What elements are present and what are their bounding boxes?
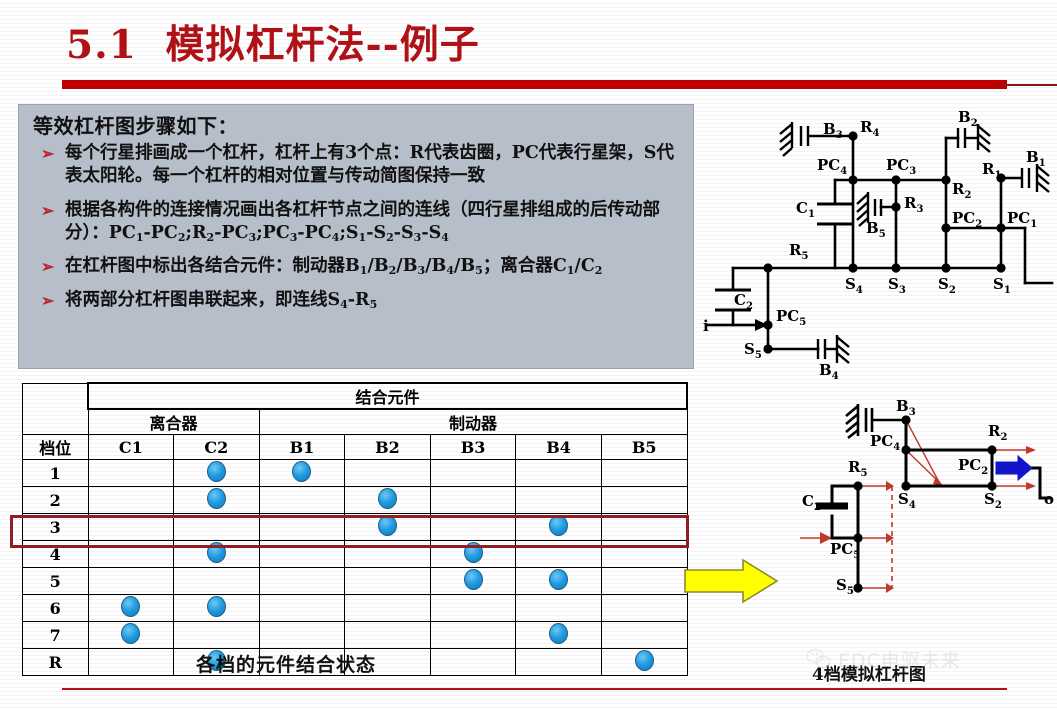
empty-cell (430, 514, 516, 541)
footer-rule (62, 688, 1007, 690)
engagement-dot-cell (259, 460, 345, 487)
empty-cell (259, 622, 345, 649)
list-item-label: 每个行星排画成一个杠杆，杠杆上有3个点：R代表齿圈，PC代表行星架，S代表太阳轮… (65, 142, 685, 189)
table-row: 7 (23, 622, 688, 649)
empty-cell (88, 649, 174, 676)
slide-title-bar: 5.1 模拟杠杆法--例子 (0, 8, 1057, 70)
engagement-dot-cell (88, 622, 174, 649)
label-s5: S5 (836, 576, 854, 597)
label-pc2: PC2 (958, 456, 988, 477)
fourth-gear-lever-diagram: B3 PC4 R2 PC2 R5 S4 S2 C2 PC5 S5 o (800, 398, 1057, 623)
table-row: 1 (23, 460, 688, 487)
table-subgroup-brake: 制动器 (259, 409, 687, 435)
gear-cell: 5 (23, 568, 89, 595)
empty-cell (174, 622, 260, 649)
label-pc5: PC5 (776, 307, 806, 328)
empty-cell (174, 568, 260, 595)
gear-engagement-table: 结合元件 离合器 制动器 档位 C1 C2 B1 B2 B3 B4 B5 123… (22, 382, 688, 634)
empty-cell (345, 595, 431, 622)
table-row: 6 (23, 595, 688, 622)
table-row: 4 (23, 541, 688, 568)
list-item-label: 在杠杆图中标出各结合元件：制动器B1/B2/B3/B4/B5；离合器C1/C2 (65, 255, 685, 279)
empty-cell (88, 460, 174, 487)
title-underline-tail (1003, 84, 1057, 86)
label-b1: B1 (1026, 148, 1046, 169)
engagement-dot-cell (601, 649, 687, 676)
watermark: EDC电驱未来 (806, 643, 1036, 675)
label-s5: S5 (744, 340, 762, 361)
label-b5: B5 (866, 219, 886, 240)
table-row: 3 (23, 514, 688, 541)
label-r4: R4 (860, 118, 879, 139)
label-b2: B2 (958, 108, 978, 129)
arrow-bullet-icon: ➢ (33, 142, 65, 165)
column-header-c2: C2 (174, 435, 260, 460)
engagement-dot-icon (121, 623, 140, 644)
table-group-header: 结合元件 (88, 383, 687, 409)
engagement-dot-cell (174, 595, 260, 622)
table-row: 2 (23, 487, 688, 514)
empty-cell (601, 460, 687, 487)
label-c1: C1 (796, 199, 815, 220)
list-item: ➢ 将两部分杠杆图串联起来，即连线S4-R5 (33, 289, 685, 313)
empty-cell (88, 541, 174, 568)
label-c2: C2 (734, 291, 753, 312)
empty-cell (345, 460, 431, 487)
gear-cell: R (23, 649, 89, 676)
label-input-i: i (703, 317, 709, 335)
empty-cell (345, 622, 431, 649)
empty-cell (259, 541, 345, 568)
yellow-arrow-icon (683, 558, 779, 604)
table-body: 1234567R (23, 460, 688, 676)
empty-cell (259, 514, 345, 541)
empty-cell (430, 595, 516, 622)
engagement-dot-icon (207, 488, 226, 509)
column-header-b4: B4 (516, 435, 602, 460)
list-item: ➢ 每个行星排画成一个杠杆，杠杆上有3个点：R代表齿圈，PC代表行星架，S代表太… (33, 142, 685, 189)
list-item: ➢ 在杠杆图中标出各结合元件：制动器B1/B2/B3/B4/B5；离合器C1/C… (33, 255, 685, 279)
label-pc3: PC3 (886, 156, 916, 177)
empty-cell (88, 568, 174, 595)
empty-cell (601, 568, 687, 595)
engagement-dot-cell (174, 487, 260, 514)
gear-cell: 4 (23, 541, 89, 568)
column-header-b3: B3 (430, 435, 516, 460)
empty-cell (430, 487, 516, 514)
empty-cell (516, 460, 602, 487)
engagement-dot-icon (207, 542, 226, 563)
empty-cell (430, 622, 516, 649)
arrow-bullet-icon: ➢ (33, 255, 65, 278)
title-label: 模拟杠杆法--例子 (165, 22, 479, 68)
steps-heading: 等效杠杆图步骤如下： (33, 115, 685, 138)
empty-cell (516, 487, 602, 514)
label-c2: C2 (802, 492, 821, 513)
label-pc5: PC5 (830, 540, 860, 561)
engagement-dot-cell (174, 541, 260, 568)
label-output-o: o (1044, 490, 1054, 508)
label-b3: B3 (823, 120, 843, 141)
list-item-label: 将两部分杠杆图串联起来，即连线S4-R5 (65, 289, 685, 313)
engagement-dot-cell (430, 568, 516, 595)
engagement-dot-icon (207, 461, 226, 482)
wechat-icon (806, 648, 832, 670)
label-pc2: PC2 (952, 209, 982, 230)
empty-cell (430, 460, 516, 487)
column-header-c1: C1 (88, 435, 174, 460)
empty-cell (516, 541, 602, 568)
empty-cell (345, 568, 431, 595)
full-lever-diagram: B3 R4 PC4 PC3 B2 R2 B1 R1 C1 R3 B5 PC2 P… (700, 100, 1057, 390)
table-row-header-label: 档位 (23, 435, 89, 460)
engagement-dot-icon (207, 596, 226, 617)
engagement-dot-cell (516, 568, 602, 595)
label-r2: R2 (988, 422, 1007, 443)
label-s3: S3 (888, 275, 906, 296)
empty-cell (601, 541, 687, 568)
label-pc1: PC1 (1007, 209, 1037, 230)
engagement-dot-cell (345, 514, 431, 541)
list-item-label: 根据各构件的连接情况画出各杠杆节点之间的连线（四行星排组成的后传动部分）：PC1… (65, 199, 685, 246)
empty-cell (516, 595, 602, 622)
table-row: 5 (23, 568, 688, 595)
empty-cell (345, 541, 431, 568)
engagement-dot-cell (516, 514, 602, 541)
gear-cell: 1 (23, 460, 89, 487)
label-s4: S4 (898, 490, 916, 511)
label-s2: S2 (984, 490, 1002, 511)
engagement-dot-icon (378, 488, 397, 509)
engagement-dot-icon (635, 650, 654, 671)
empty-cell (601, 514, 687, 541)
engagement-dot-icon (549, 623, 568, 644)
list-item: ➢ 根据各构件的连接情况画出各杠杆节点之间的连线（四行星排组成的后传动部分）：P… (33, 199, 685, 246)
empty-cell (601, 622, 687, 649)
label-s4: S4 (845, 275, 863, 296)
steps-panel: 等效杠杆图步骤如下： ➢ 每个行星排画成一个杠杆，杠杆上有3个点：R代表齿圈，P… (18, 104, 694, 369)
engagement-dot-icon (464, 569, 483, 590)
engagement-dot-icon (121, 596, 140, 617)
watermark-text: EDC电驱未来 (838, 646, 961, 673)
label-b4: B4 (819, 361, 839, 382)
engagement-dot-cell (430, 541, 516, 568)
label-r3: R3 (904, 194, 923, 215)
title-underline-bar (62, 80, 1007, 89)
table-subgroup-clutch: 离合器 (88, 409, 259, 435)
engagement-dot-cell (88, 595, 174, 622)
engagement-dot-cell (516, 622, 602, 649)
engagement-dot-cell (345, 487, 431, 514)
label-s1: S1 (993, 275, 1011, 296)
arrow-bullet-icon: ➢ (33, 199, 65, 222)
empty-cell (174, 514, 260, 541)
empty-cell (259, 487, 345, 514)
engagement-dot-icon (549, 569, 568, 590)
column-header-b2: B2 (345, 435, 431, 460)
table-corner-cell (23, 383, 89, 435)
label-r1: R1 (982, 160, 1001, 181)
page-title: 5.1 模拟杠杆法--例子 (66, 14, 480, 70)
empty-cell (601, 595, 687, 622)
label-s2: S2 (938, 275, 956, 296)
table-caption: 各档的元件结合状态 (196, 650, 376, 677)
engagement-dot-icon (549, 515, 568, 536)
gear-cell: 6 (23, 595, 89, 622)
label-r2: R2 (952, 180, 971, 201)
label-r5: R5 (789, 241, 808, 262)
empty-cell (88, 487, 174, 514)
column-header-b1: B1 (259, 435, 345, 460)
engagement-dot-icon (464, 542, 483, 563)
column-header-b5: B5 (601, 435, 687, 460)
arrow-bullet-icon: ➢ (33, 289, 65, 312)
label-b3: B3 (896, 398, 916, 418)
engagement-dot-cell (174, 460, 260, 487)
title-number: 5.1 (66, 22, 137, 68)
engagement-dot-icon (292, 461, 311, 482)
empty-cell (430, 649, 516, 676)
empty-cell (601, 487, 687, 514)
gear-cell: 7 (23, 622, 89, 649)
empty-cell (516, 649, 602, 676)
empty-cell (259, 568, 345, 595)
label-pc4: PC4 (817, 156, 847, 177)
engagement-dot-icon (378, 515, 397, 536)
label-r5: R5 (848, 458, 867, 479)
label-pc4: PC4 (870, 432, 900, 453)
empty-cell (88, 514, 174, 541)
gear-cell: 2 (23, 487, 89, 514)
empty-cell (259, 595, 345, 622)
gear-cell: 3 (23, 514, 89, 541)
